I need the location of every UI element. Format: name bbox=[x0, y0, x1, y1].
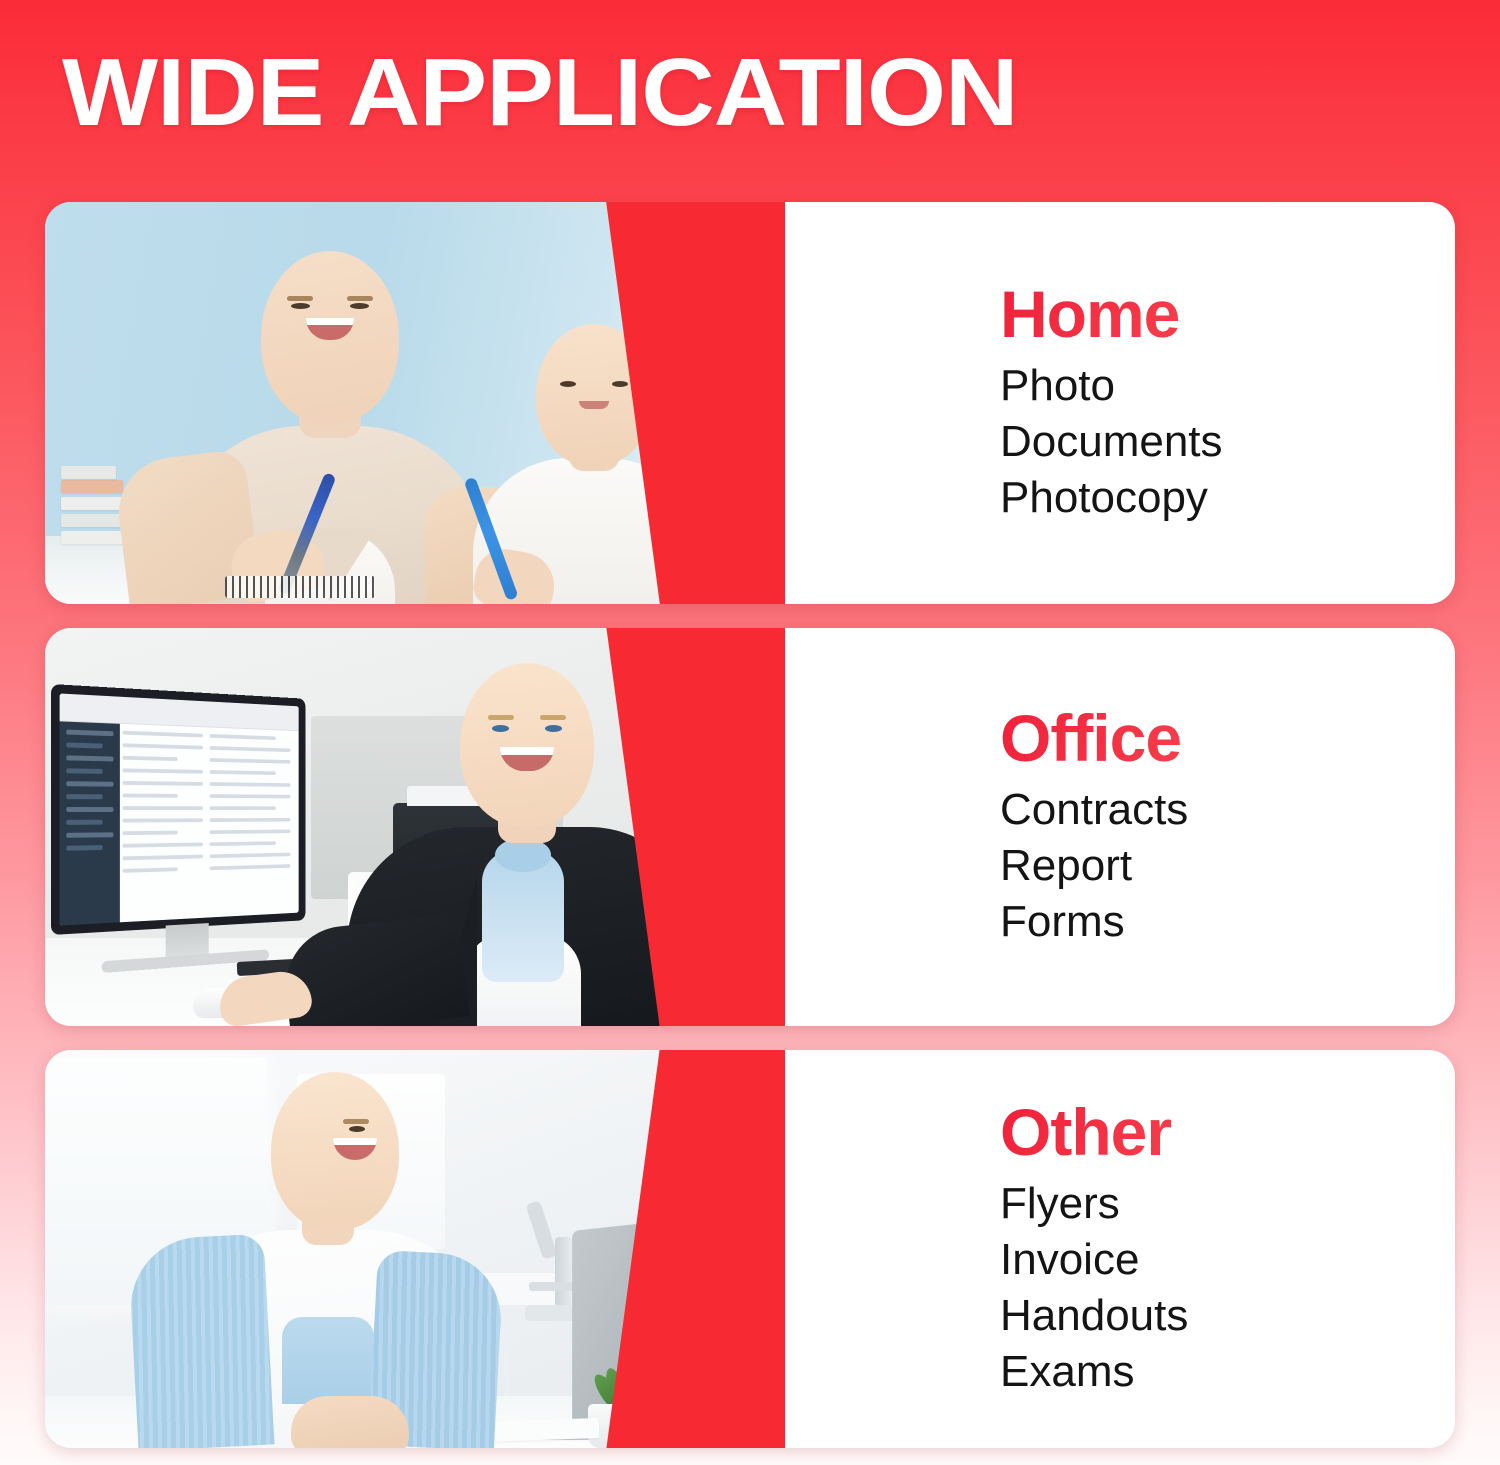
girl-eye-left bbox=[560, 381, 576, 387]
lab-woman-figure bbox=[163, 1058, 493, 1448]
list-item: Photo bbox=[1000, 358, 1455, 414]
category-title-office: Office bbox=[1000, 705, 1455, 772]
feature-card-home: Home Photo Documents Photocopy bbox=[45, 202, 1455, 604]
girl-eye-right bbox=[612, 381, 628, 387]
woman-brow bbox=[343, 1119, 369, 1124]
girl-mouth bbox=[579, 401, 609, 409]
category-list-home: Photo Documents Photocopy bbox=[1000, 358, 1455, 526]
monitor-icon bbox=[51, 684, 305, 935]
woman-bow-tie bbox=[482, 850, 564, 982]
text-column-home: Home Photo Documents Photocopy bbox=[785, 202, 1455, 604]
text-column-office: Office Contracts Report Forms bbox=[785, 628, 1455, 1026]
infographic-page: WIDE APPLICATION bbox=[0, 0, 1500, 1465]
category-title-home: Home bbox=[1000, 281, 1455, 348]
woman-head bbox=[271, 1072, 399, 1230]
list-item: Photocopy bbox=[1000, 470, 1455, 526]
list-item: Report bbox=[1000, 838, 1455, 894]
list-item: Forms bbox=[1000, 894, 1455, 950]
photo-other bbox=[45, 1050, 785, 1448]
woman-brow-left bbox=[287, 296, 313, 301]
list-item: Contracts bbox=[1000, 782, 1455, 838]
text-column-other: Other Flyers Invoice Handouts Exams bbox=[785, 1050, 1455, 1448]
woman-eye-left bbox=[492, 725, 509, 732]
list-item: Invoice bbox=[1000, 1232, 1455, 1288]
paper-sheet bbox=[481, 1418, 600, 1442]
screen-sidebar bbox=[60, 721, 120, 925]
list-item: Documents bbox=[1000, 414, 1455, 470]
monitor-frame bbox=[51, 684, 305, 935]
photo-office bbox=[45, 628, 785, 1026]
list-item: Exams bbox=[1000, 1344, 1455, 1400]
woman-head bbox=[460, 663, 594, 827]
feature-card-other: Other Flyers Invoice Handouts Exams bbox=[45, 1050, 1455, 1448]
screen-content-left bbox=[122, 730, 202, 915]
screen-content-right bbox=[210, 734, 290, 911]
page-header: WIDE APPLICATION bbox=[0, 0, 1500, 185]
woman-smile bbox=[306, 318, 354, 340]
list-item: Handouts bbox=[1000, 1288, 1455, 1344]
page-title: WIDE APPLICATION bbox=[62, 45, 1017, 141]
feature-card-office: Office Contracts Report Forms bbox=[45, 628, 1455, 1026]
woman-eye-left bbox=[291, 303, 310, 309]
woman-shirt bbox=[282, 1317, 374, 1404]
category-list-office: Contracts Report Forms bbox=[1000, 782, 1455, 950]
woman-cardigan-left bbox=[128, 1234, 275, 1448]
woman-brow-right bbox=[347, 296, 373, 301]
woman-brow-right bbox=[540, 715, 566, 720]
category-list-other: Flyers Invoice Handouts Exams bbox=[1000, 1176, 1455, 1400]
woman-smile bbox=[333, 1138, 377, 1160]
woman-eye-right bbox=[350, 303, 369, 309]
woman-eye-right bbox=[545, 725, 562, 732]
woman-brow-left bbox=[488, 715, 514, 720]
monitor-screen bbox=[60, 693, 299, 925]
woman-eye bbox=[349, 1126, 365, 1132]
list-item: Flyers bbox=[1000, 1176, 1455, 1232]
photo-home bbox=[45, 202, 785, 604]
woman-head bbox=[261, 251, 399, 423]
category-title-other: Other bbox=[1000, 1099, 1455, 1166]
woman-smile bbox=[500, 747, 554, 771]
notebook-icon bbox=[225, 576, 375, 598]
woman-clasped-hands bbox=[291, 1396, 409, 1448]
